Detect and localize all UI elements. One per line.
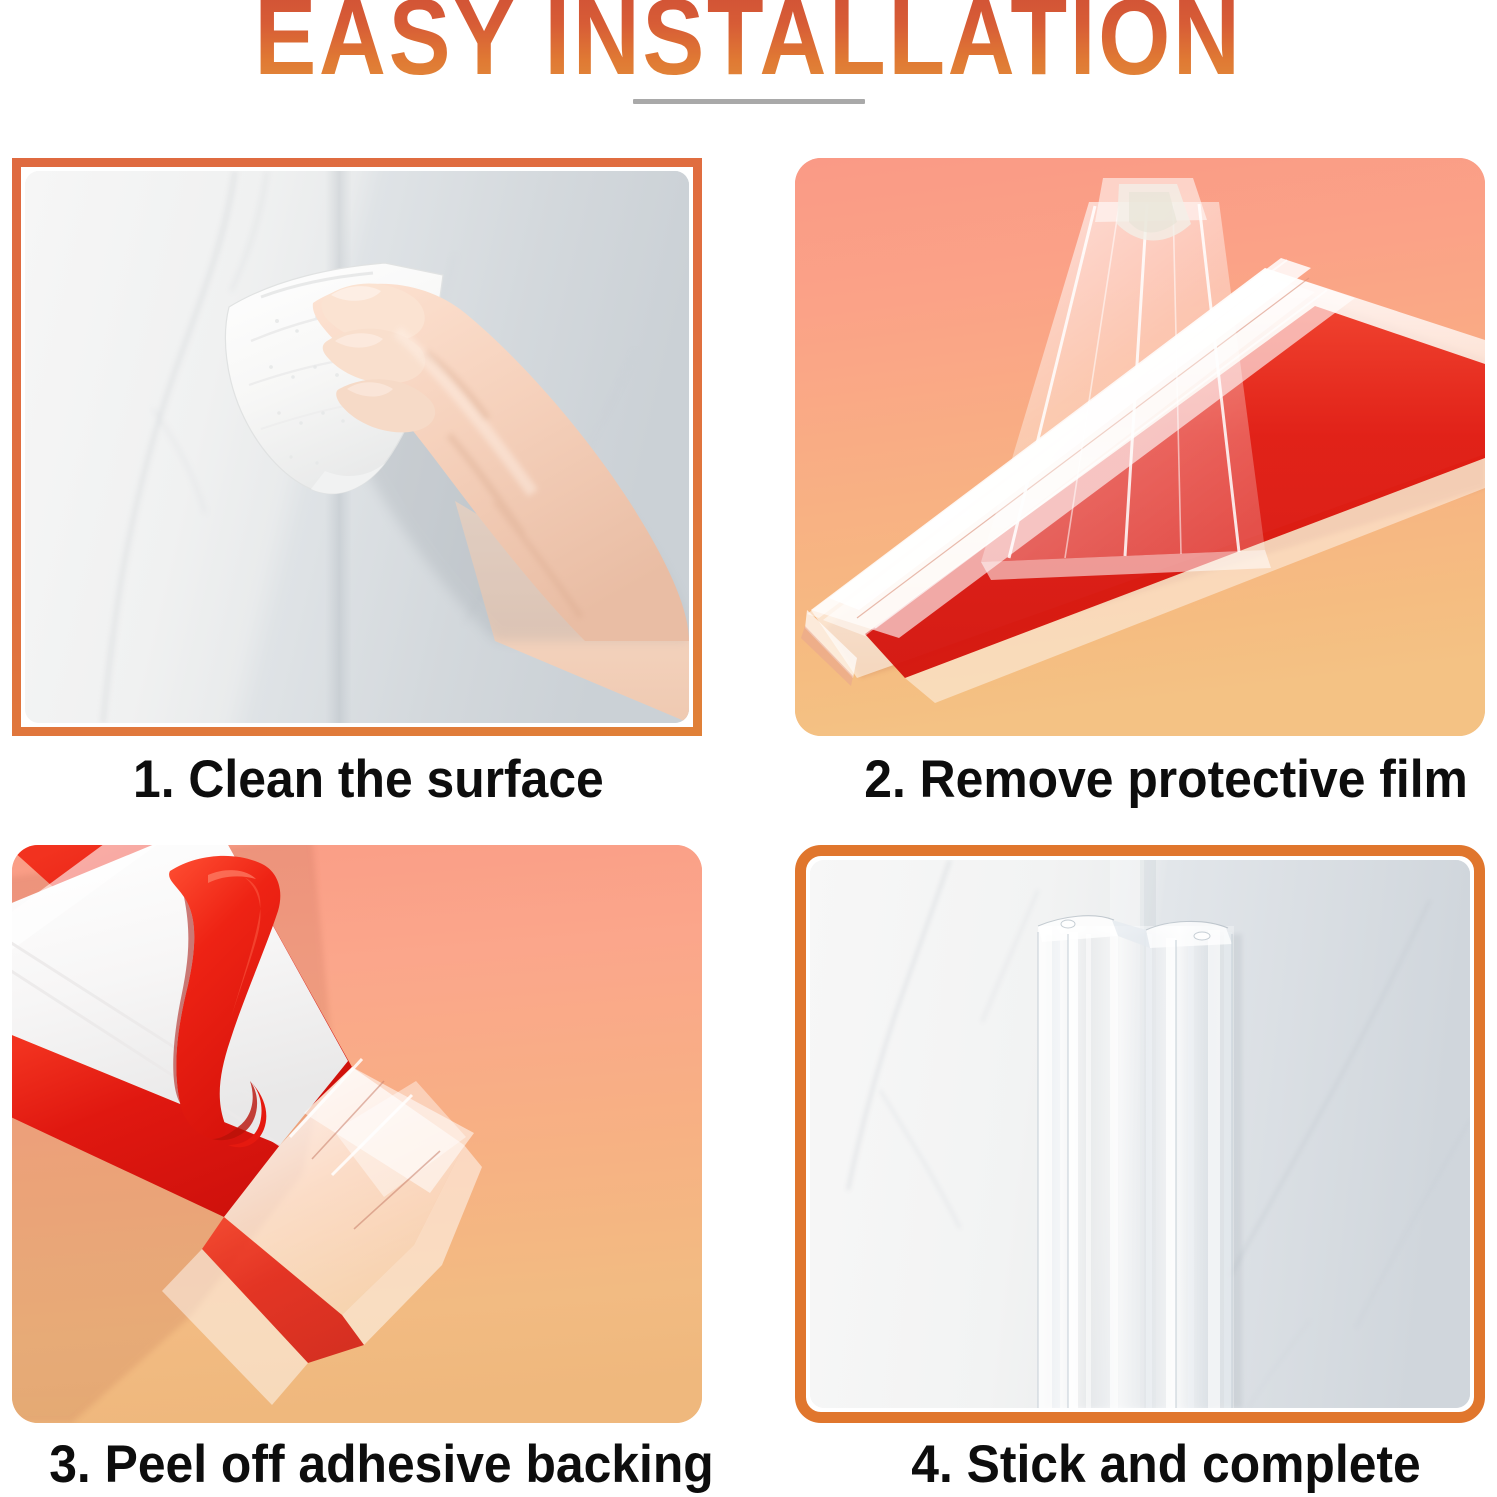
step-1-image-panel <box>12 158 702 736</box>
page-header: EASY INSTALLATION <box>0 0 1497 150</box>
step-2-image-panel <box>795 158 1485 736</box>
adhesive-backing-illustration <box>12 845 702 1423</box>
wall-illustration <box>25 171 689 723</box>
panel-3-frame <box>12 845 702 1423</box>
corner-guard-film-illustration <box>795 158 1485 736</box>
page-title: EASY INSTALLATION <box>105 0 1392 92</box>
step-3-image-panel <box>12 845 702 1423</box>
panel-1-photo <box>25 171 689 723</box>
step-3-caption: 3. Peel off adhesive backing <box>49 1435 714 1495</box>
title-divider <box>633 99 865 104</box>
installed-clear-corner-guard <box>1038 916 1234 1408</box>
panel-4-photo <box>810 860 1470 1408</box>
step-4-caption: 4. Stick and complete <box>911 1435 1420 1495</box>
panel-2-frame <box>795 158 1485 736</box>
installation-steps-grid: 1. Clean the surface <box>0 150 1497 1497</box>
step-4-image-panel <box>795 845 1485 1423</box>
step-1-caption: 1. Clean the surface <box>133 750 604 810</box>
installed-guard-illustration <box>810 860 1470 1408</box>
step-2-caption: 2. Remove protective film <box>864 750 1468 810</box>
